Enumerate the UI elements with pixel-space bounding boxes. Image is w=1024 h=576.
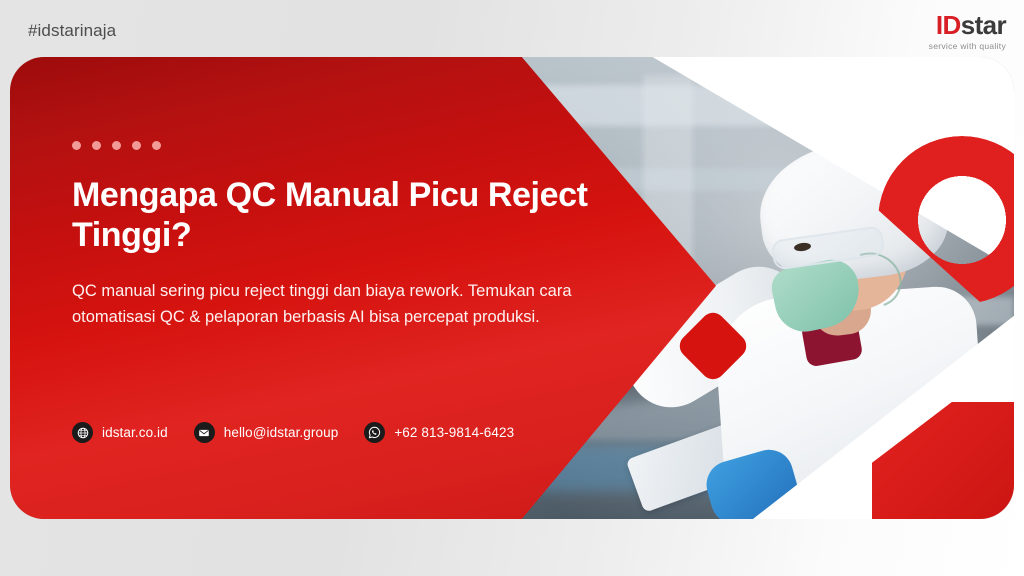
envelope-icon [194,422,215,443]
contact-email-label: hello@idstar.group [224,425,339,440]
contact-whatsapp[interactable]: +62 813-9814-6423 [364,422,514,443]
dot-icon [152,141,161,150]
hero-subcopy: QC manual sering picu reject tinggi dan … [72,278,592,331]
logo-id-text: ID [936,10,961,40]
logo-wordmark: IDstar [929,12,1006,38]
contact-website[interactable]: idstar.co.id [72,422,168,443]
eyebrow-dots [72,141,617,150]
page-title: Mengapa QC Manual Picu Reject Tinggi? [72,176,612,256]
hero-copy: Mengapa QC Manual Picu Reject Tinggi? QC… [72,141,617,331]
contact-phone-label: +62 813-9814-6423 [394,425,514,440]
hero-card: Mengapa QC Manual Picu Reject Tinggi? QC… [10,57,1014,519]
marketing-banner: #idstarinaja IDstar service with quality [0,0,1024,576]
whatsapp-icon [364,422,385,443]
dot-icon [92,141,101,150]
dot-icon [132,141,141,150]
dot-icon [112,141,121,150]
logo-tagline: service with quality [929,42,1006,51]
contact-email[interactable]: hello@idstar.group [194,422,339,443]
dot-icon [72,141,81,150]
contact-bar: idstar.co.id hello@idstar.group [72,422,514,443]
logo-star-text: star [961,10,1006,40]
hashtag-label: #idstarinaja [28,21,116,41]
globe-icon [72,422,93,443]
contact-website-label: idstar.co.id [102,425,168,440]
brand-logo: IDstar service with quality [929,12,1006,51]
